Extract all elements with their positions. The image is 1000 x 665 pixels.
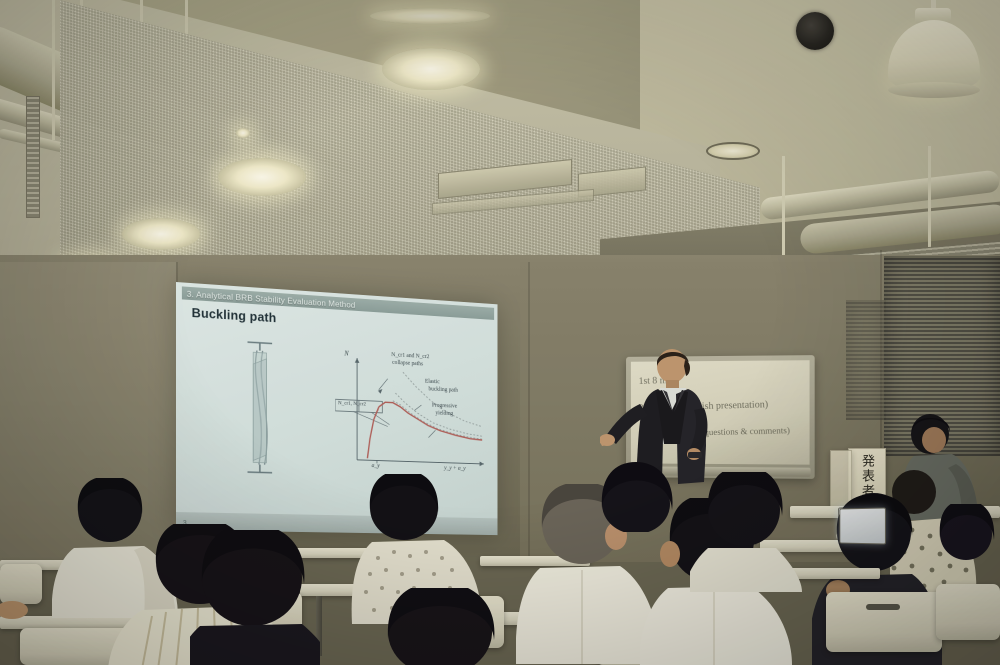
downlight-highlight-strip	[370, 8, 490, 24]
ceiling-hanger-rod-1	[52, 0, 55, 140]
downlight-spot-small	[236, 128, 250, 138]
audience-right-center-svg	[690, 472, 810, 592]
chair-right-far	[936, 584, 1000, 640]
audience-front-bottom-left	[190, 530, 320, 665]
brace-svg	[238, 338, 282, 477]
audience-far-right-svg	[930, 504, 1000, 574]
laptop-screen-front	[839, 507, 886, 544]
downlight-1-glow	[382, 48, 480, 90]
downlight-right-recessed	[706, 142, 760, 160]
audience-far-left-hand	[0, 596, 40, 626]
chair-handle-slot-3	[866, 604, 900, 610]
chart-annotation-elastic-line2: buckling path	[428, 386, 458, 394]
buckled-brace-figure	[238, 338, 282, 477]
ceiling-strut-vertical	[26, 96, 40, 218]
audience-far-right-rear	[930, 504, 1000, 574]
chart-ylabel: N	[344, 350, 348, 358]
downlight-2-glow	[218, 158, 306, 196]
audience-front-center	[368, 588, 518, 665]
chair-right-back	[826, 592, 942, 652]
ceiling-hanger-right-2	[928, 146, 931, 258]
ceiling-hanger-right-1	[782, 156, 785, 264]
buckling-path-chart: N N_cr1 and N_cr2 collapse paths Elastic…	[335, 343, 487, 482]
audience-right-of-center	[690, 472, 810, 592]
audience-overlapping-screen	[592, 462, 682, 532]
audience-bottom-left-svg	[190, 530, 320, 665]
chart-annotation-progressive-line1: Progressive	[432, 402, 457, 410]
audience-overlap-svg	[592, 462, 682, 532]
hand-svg	[0, 596, 40, 626]
screenshot-root: 3. Analytical BRB Stability Evaluation M…	[0, 0, 1000, 665]
chart-annotation-elastic-line1: Elastic	[425, 378, 440, 385]
pendant-lamp-lip	[888, 82, 980, 98]
downlight-3-glow	[122, 218, 200, 250]
chart-annotation-progressive-line2: yielding	[435, 410, 453, 417]
ceiling-vent-icon	[796, 12, 834, 50]
window-blinds-far	[846, 300, 886, 420]
audience-front-center-svg	[368, 588, 518, 665]
chart-ncr-box-label: N_cr1, N_cr2	[338, 400, 366, 407]
slide-heading: Buckling path	[192, 305, 277, 325]
chart-xtick-ay: a_y	[372, 462, 380, 469]
chart-xlabel: y_y + a_y	[444, 465, 465, 472]
